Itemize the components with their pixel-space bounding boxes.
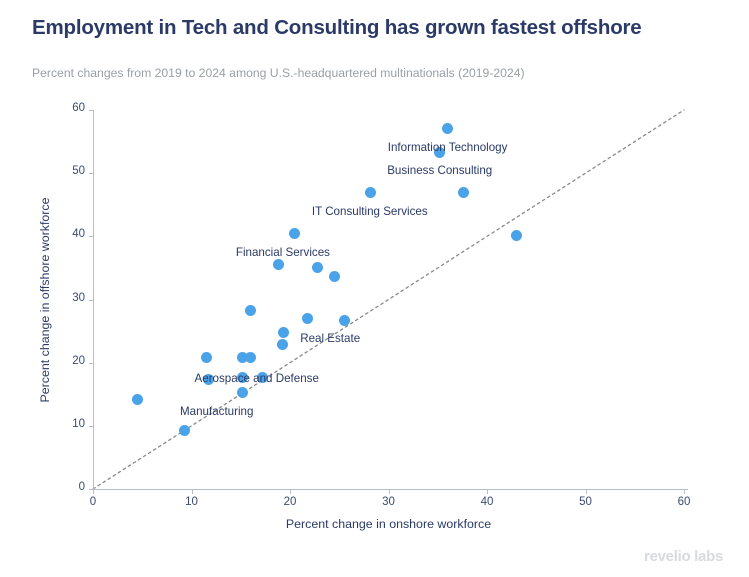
scatter-point[interactable] (442, 123, 453, 134)
x-tick-label: 60 (664, 496, 704, 508)
x-tick-mark (586, 490, 587, 494)
scatter-point[interactable] (289, 228, 300, 239)
scatter-point[interactable] (458, 187, 469, 198)
scatter-point[interactable] (201, 352, 212, 363)
scatter-point-label: IT Consulting Services (312, 205, 428, 218)
scatter-point[interactable] (245, 305, 256, 316)
scatter-point[interactable] (277, 339, 288, 350)
scatter-point[interactable] (278, 327, 289, 338)
scatter-point[interactable] (302, 313, 313, 324)
y-tick-label: 50 (51, 165, 85, 177)
parity-reference-line (0, 0, 749, 577)
x-tick-label: 10 (172, 496, 212, 508)
y-tick-label: 20 (51, 355, 85, 367)
chart-figure: Employment in Tech and Consulting has gr… (0, 0, 749, 577)
scatter-point[interactable] (339, 315, 350, 326)
x-tick-mark (389, 490, 390, 494)
scatter-point[interactable] (312, 262, 323, 273)
x-tick-label: 50 (566, 496, 606, 508)
scatter-point[interactable] (329, 271, 340, 282)
scatter-point[interactable] (511, 230, 522, 241)
scatter-point[interactable] (273, 259, 284, 270)
x-axis-line (93, 489, 688, 490)
y-axis-title: Percent change in offshore workforce (38, 197, 52, 402)
x-tick-label: 0 (73, 496, 113, 508)
scatter-point-label: Information Technology (388, 141, 508, 154)
x-tick-label: 40 (467, 496, 507, 508)
scatter-point-label: Manufacturing (180, 405, 253, 418)
x-tick-mark (93, 490, 94, 494)
x-tick-label: 30 (369, 496, 409, 508)
scatter-point[interactable] (237, 387, 248, 398)
y-tick-mark (89, 363, 93, 364)
scatter-point-label: Financial Services (236, 246, 330, 259)
scatter-point[interactable] (132, 394, 143, 405)
y-tick-mark (89, 300, 93, 301)
x-tick-mark (290, 490, 291, 494)
x-tick-mark (487, 490, 488, 494)
x-tick-mark (684, 490, 685, 494)
y-tick-label: 0 (51, 481, 85, 493)
y-tick-mark (89, 236, 93, 237)
y-tick-label: 40 (51, 228, 85, 240)
x-axis-title: Percent change in onshore workforce (286, 517, 491, 531)
y-tick-mark (89, 110, 93, 111)
scatter-point-label: Real Estate (300, 332, 360, 345)
y-tick-label: 10 (51, 418, 85, 430)
scatter-point-label: Business Consulting (387, 164, 492, 177)
revelio-labs-watermark: revelio labs (644, 548, 723, 565)
y-tick-label: 60 (51, 102, 85, 114)
scatter-point-label: Aerospace and Defense (195, 372, 319, 385)
y-axis-line (93, 110, 94, 489)
y-tick-mark (89, 173, 93, 174)
x-tick-mark (192, 490, 193, 494)
y-tick-label: 30 (51, 292, 85, 304)
scatter-plot-area: 01020304050600102030405060 Information T… (0, 0, 749, 577)
y-tick-mark (89, 426, 93, 427)
x-tick-label: 20 (270, 496, 310, 508)
scatter-point[interactable] (365, 187, 376, 198)
scatter-point[interactable] (179, 425, 190, 436)
